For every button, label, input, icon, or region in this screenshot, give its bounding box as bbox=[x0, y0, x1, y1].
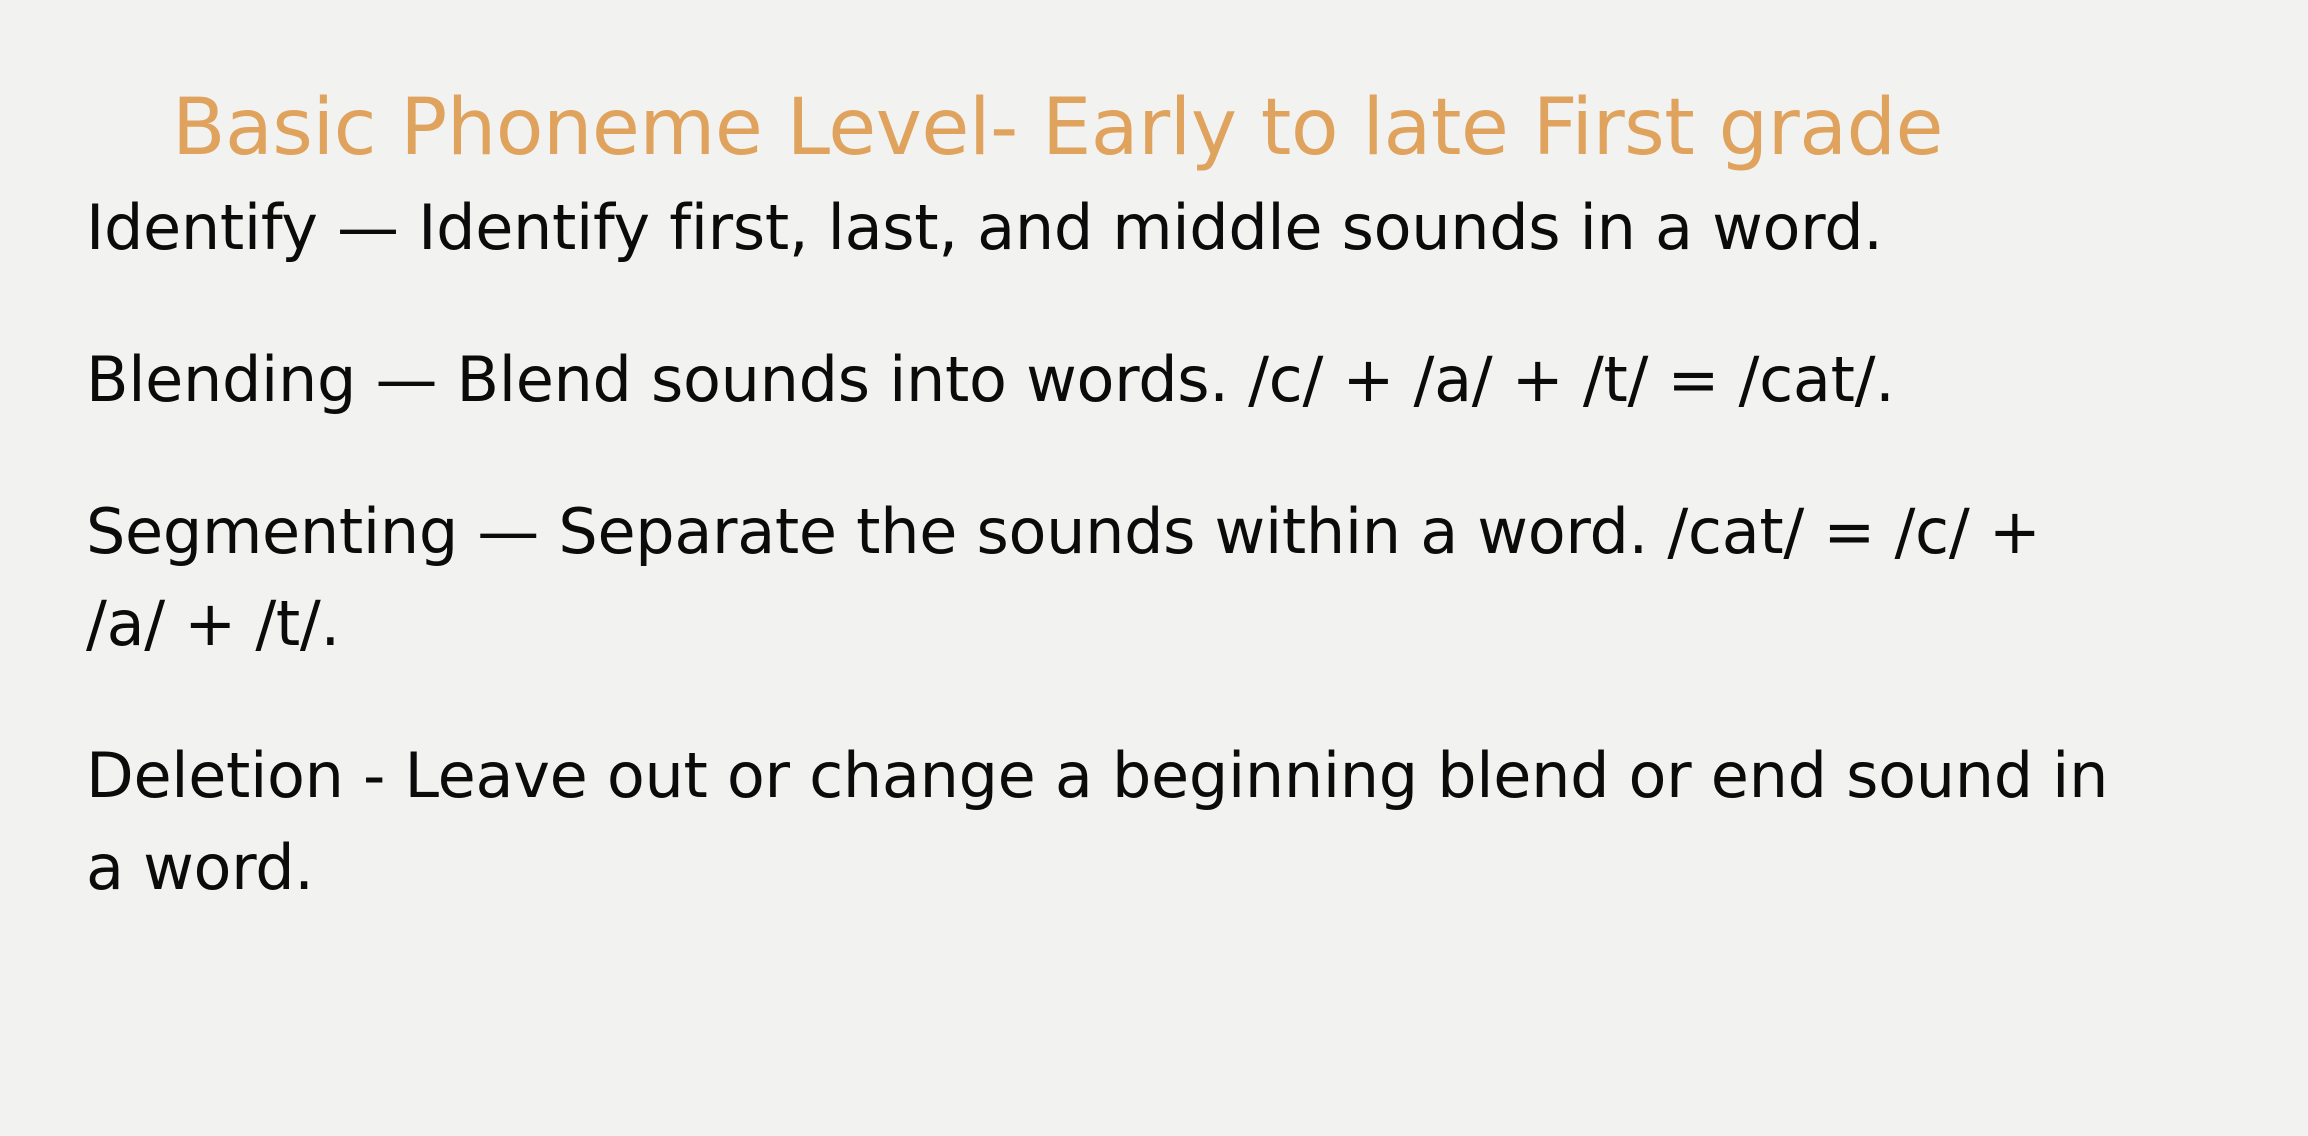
page-title: Basic Phoneme Level- Early to late First… bbox=[172, 80, 2172, 176]
definition-item-identify: Identify — Identify first, last, and mid… bbox=[86, 182, 2246, 274]
definition-list: Identify — Identify first, last, and mid… bbox=[86, 182, 2246, 914]
slide-canvas: Basic Phoneme Level- Early to late First… bbox=[0, 0, 2308, 1136]
definition-item-segmenting: Segmenting — Separate the sounds within … bbox=[86, 486, 2126, 670]
definition-item-deletion: Deletion - Leave out or change a beginni… bbox=[86, 730, 2146, 914]
definition-item-blending: Blending — Blend sounds into words. /c/ … bbox=[86, 334, 2246, 426]
